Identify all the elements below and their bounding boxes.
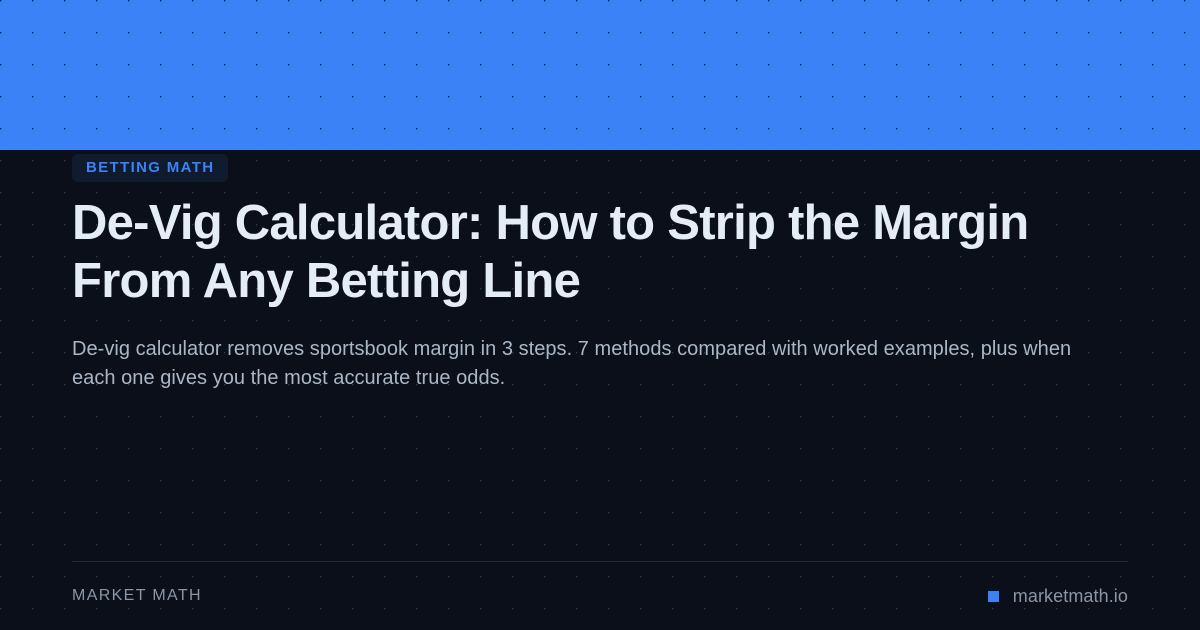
category-badge: BETTING MATH [72, 154, 228, 182]
top-blue-band [0, 0, 1200, 150]
page-title: De-Vig Calculator: How to Strip the Marg… [72, 194, 1072, 310]
social-share-card: BETTING MATH De-Vig Calculator: How to S… [0, 0, 1200, 630]
footer-row: MARKET MATH marketmath.io [72, 562, 1128, 630]
footer-domain-label: marketmath.io [1013, 586, 1128, 607]
card-footer: MARKET MATH marketmath.io [72, 561, 1128, 630]
footer-domain-group: marketmath.io [988, 586, 1128, 607]
page-subtitle: De-vig calculator removes sportsbook mar… [72, 335, 1088, 393]
square-icon [988, 591, 999, 602]
footer-site-name: MARKET MATH [72, 587, 202, 605]
card-content: BETTING MATH De-Vig Calculator: How to S… [72, 150, 1128, 630]
